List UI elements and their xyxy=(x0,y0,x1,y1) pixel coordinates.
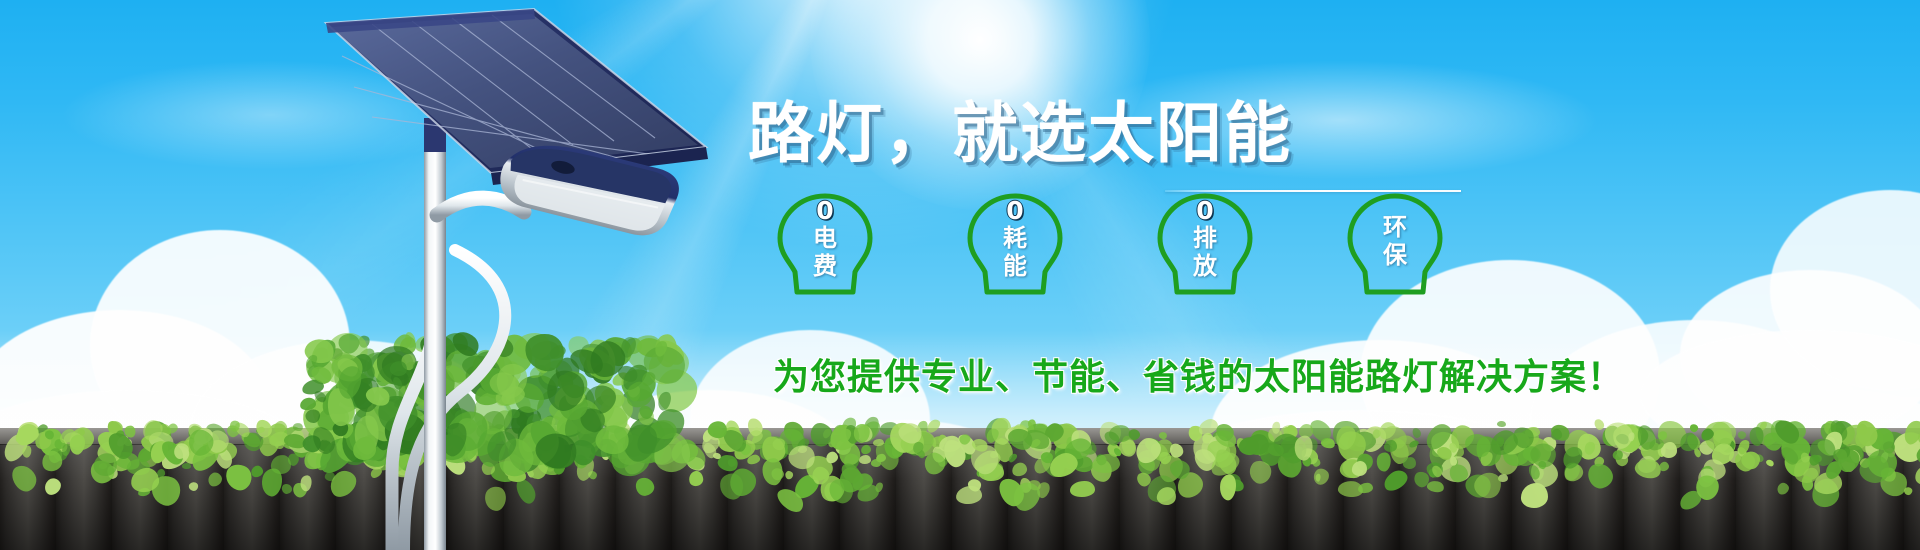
feature-badge-text: 0电费 xyxy=(770,198,880,280)
feature-badge-2: 0耗能 xyxy=(960,192,1070,297)
feature-badge-zero: 0 xyxy=(1006,198,1023,224)
feature-badge-char-2: 放 xyxy=(1193,253,1217,280)
banner-copy: 路灯，就选太阳能 0电费0耗能0排放环保 为您提供专业、节能、省钱的太阳能路灯解… xyxy=(0,0,1920,550)
feature-badge-3: 0排放 xyxy=(1150,192,1260,297)
feature-badge-char-2: 费 xyxy=(813,253,837,280)
page-title: 路灯，就选太阳能 xyxy=(748,101,1292,167)
banner-subtitle: 为您提供专业、节能、省钱的太阳能路灯解决方案！ xyxy=(773,357,1624,398)
feature-badge-zero: 0 xyxy=(1196,198,1213,224)
feature-badge-char-1: 耗 xyxy=(1003,225,1027,252)
feature-badge-text: 环保 xyxy=(1340,214,1450,269)
feature-badge-4: 环保 xyxy=(1340,192,1450,297)
feature-badge-zero: 0 xyxy=(816,198,833,224)
feature-badge-char-1: 排 xyxy=(1193,225,1217,252)
feature-badge-text: 0排放 xyxy=(1150,198,1260,280)
feature-badge-char-2: 保 xyxy=(1383,242,1407,269)
feature-badge-char-1: 环 xyxy=(1383,214,1407,241)
feature-badge-char-2: 能 xyxy=(1003,253,1027,280)
feature-badge-char-1: 电 xyxy=(813,225,837,252)
feature-badge-text: 0耗能 xyxy=(960,198,1070,280)
solar-street-light-banner: 路灯，就选太阳能 0电费0耗能0排放环保 为您提供专业、节能、省钱的太阳能路灯解… xyxy=(0,0,1920,550)
feature-badge-1: 0电费 xyxy=(770,192,880,297)
feature-badge-list: 0电费0耗能0排放环保 xyxy=(770,192,1450,297)
